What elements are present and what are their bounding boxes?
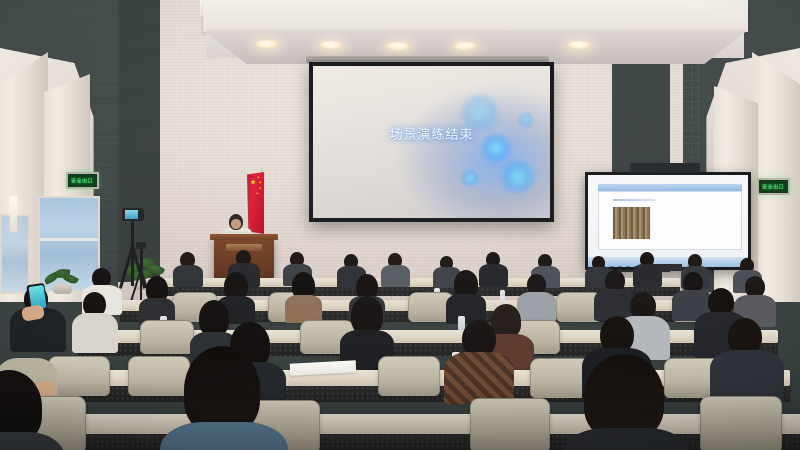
door-mullion-horizontal [40,238,98,241]
plant-pot-door [53,284,72,294]
downlight-5 [566,41,592,50]
wall-lamp-left [10,196,17,232]
tripod-leg [140,269,142,303]
tv-screen-surface [588,175,748,267]
water-bottle-b3 [500,290,505,302]
slide-title-text: 场景演练结束 [313,124,550,143]
tv-mount-bracket [630,163,700,173]
flag-star-small [256,192,259,195]
flag-star-small [259,187,262,190]
foreground-shadow [0,380,800,450]
tv-heading-text [613,199,656,202]
side-tv-monitor[interactable] [585,172,751,270]
downlight-1 [254,40,280,49]
exit-sign-right-label: 安全出口 [762,183,784,191]
exit-sign-left: 安全出口 [66,172,99,189]
exit-sign-left-label: 安全出口 [71,177,93,185]
flag-star-small [257,176,260,179]
projection-surface: 场景演练结束 [313,66,550,218]
conference-hall-photo: 场景演练结束 安全出口 安全出口 [0,0,800,450]
tv-window-body [598,191,742,251]
slide-glow-node-3 [498,160,538,194]
exit-sign-right: 安全出口 [757,178,790,195]
podium-top-surface [210,234,278,240]
downlight-4 [452,42,478,51]
downlight-2 [318,41,344,50]
tripod-column [140,248,143,270]
potted-plant-door [44,266,80,294]
main-projection-screen[interactable]: 场景演练结束 [309,62,554,222]
tv-photo-thumbnail [613,207,650,239]
presenter-face [231,219,241,229]
flag-star-large [250,179,256,185]
camera-lcd-screen [125,210,138,219]
china-national-flag [247,172,264,234]
slide-glow-node-4 [460,169,480,187]
flag-star-small [259,181,262,184]
chair-c1[interactable] [140,320,194,354]
pilaster-right-outer [752,52,800,302]
downlight-3 [385,42,411,51]
